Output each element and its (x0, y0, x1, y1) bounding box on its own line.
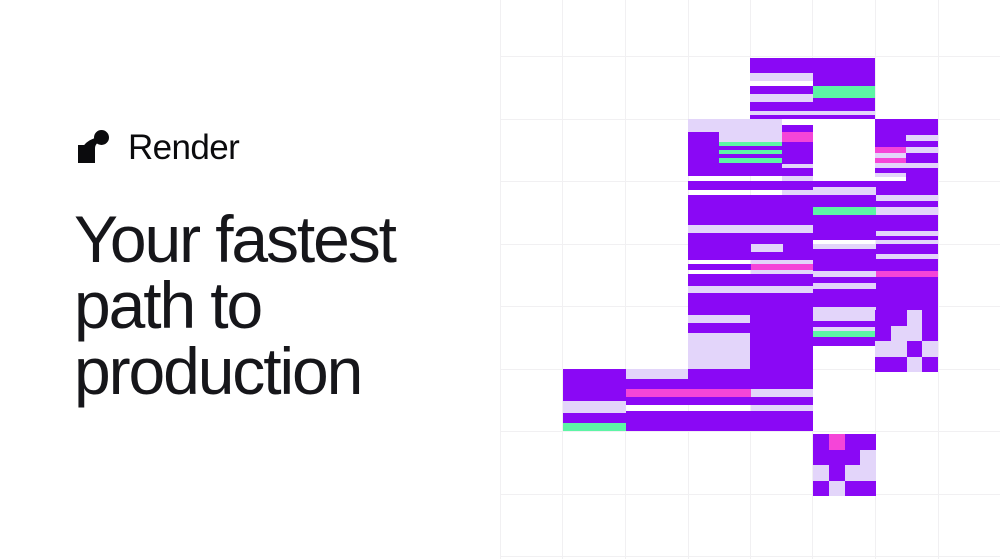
tile-torso-upper (688, 119, 813, 244)
stripe-1 (750, 73, 813, 81)
stripe-4 (688, 264, 751, 270)
stripe-0 (750, 307, 813, 369)
checker-cell-7 (860, 450, 876, 466)
stripe-5 (813, 259, 938, 271)
stripe-5 (782, 132, 813, 142)
render-logo-mark (74, 127, 114, 167)
stripe-22 (688, 195, 813, 225)
checker-cell-10 (845, 465, 861, 481)
grid-line-vertical-2 (625, 0, 626, 559)
stripe-5 (750, 86, 813, 94)
stripe-6 (813, 86, 875, 94)
stripe-7 (626, 411, 813, 431)
stripe-0 (626, 369, 688, 379)
stripe-4 (719, 132, 782, 142)
checker-cell-5 (891, 326, 907, 342)
stripe-23 (688, 225, 813, 233)
grid-line-horizontal-0 (500, 56, 1000, 57)
checker-cell-6 (907, 326, 923, 342)
grid-line-vertical-0 (500, 0, 501, 559)
checker-cell-13 (829, 481, 845, 497)
stripe-18 (688, 168, 782, 176)
checker-cell-9 (891, 341, 907, 357)
stripe-8 (782, 142, 813, 164)
stripe-2 (626, 379, 813, 389)
checker-cell-11 (922, 341, 938, 357)
stripe-0 (875, 119, 938, 135)
checker-block-checker-foot (813, 434, 876, 496)
stripe-7 (750, 94, 813, 102)
pixel-runner-graphic (500, 0, 1000, 559)
stripe-6 (813, 207, 876, 215)
tile-arm-right-block (875, 119, 938, 181)
tile-foot-mid (626, 369, 813, 431)
tile-leg-back-lower (750, 307, 813, 369)
hero-page: Render Your fastest path to production (0, 0, 1000, 559)
page-title: Your fastest path to production (74, 206, 494, 404)
checker-cell-8 (813, 465, 829, 481)
stripe-2 (876, 187, 938, 195)
stripe-3 (688, 132, 719, 142)
stripe-1 (751, 244, 783, 252)
stripe-24 (688, 233, 813, 244)
stripe-0 (750, 58, 875, 73)
checker-cell-8 (875, 341, 891, 357)
checker-block-checker-hand (875, 310, 938, 372)
checker-cell-2 (907, 310, 923, 326)
stripe-16 (875, 177, 906, 181)
brand-lockup[interactable]: Render (74, 127, 239, 167)
grid-line-vertical-7 (938, 0, 939, 559)
stripe-1 (813, 187, 876, 195)
tile-head-top (750, 58, 875, 120)
stripe-2 (813, 73, 875, 81)
stripe-0 (813, 307, 876, 321)
stripe-0 (813, 119, 876, 181)
stripe-17 (782, 168, 813, 176)
stripe-6 (688, 274, 813, 286)
checker-cell-11 (860, 465, 876, 481)
tile-foot-left (563, 369, 626, 431)
stripe-7 (876, 207, 938, 215)
grid-line-horizontal-7 (500, 494, 1000, 495)
tile-arm-back (813, 244, 938, 307)
stripe-2 (782, 125, 813, 132)
stripe-0 (688, 119, 782, 132)
stripe-5 (626, 397, 813, 405)
checker-cell-14 (907, 357, 923, 373)
grid-line-horizontal-6 (500, 431, 1000, 432)
hero-content: Render Your fastest path to production (0, 0, 500, 559)
stripe-11 (813, 289, 938, 307)
stripe-7 (688, 286, 813, 293)
grid-line-vertical-1 (562, 0, 563, 559)
stripe-4 (751, 389, 813, 397)
stripe-3 (563, 423, 626, 431)
stripe-20 (688, 181, 813, 190)
stripe-3 (626, 389, 751, 397)
tile-arm-right-upper (813, 119, 876, 181)
brand-name: Render (128, 130, 239, 165)
stripe-8 (688, 293, 813, 307)
stripe-15 (906, 173, 938, 181)
stripe-10 (750, 102, 875, 111)
stripe-1 (688, 369, 813, 379)
tile-hip-center (688, 244, 813, 307)
tile-torso-right (813, 181, 938, 244)
grid-line-horizontal-8 (500, 556, 1000, 557)
stripe-8 (813, 215, 938, 231)
stripe-0 (563, 369, 626, 401)
stripe-1 (563, 401, 626, 413)
checker-accent-cell (829, 434, 845, 450)
stripe-2 (563, 413, 626, 423)
